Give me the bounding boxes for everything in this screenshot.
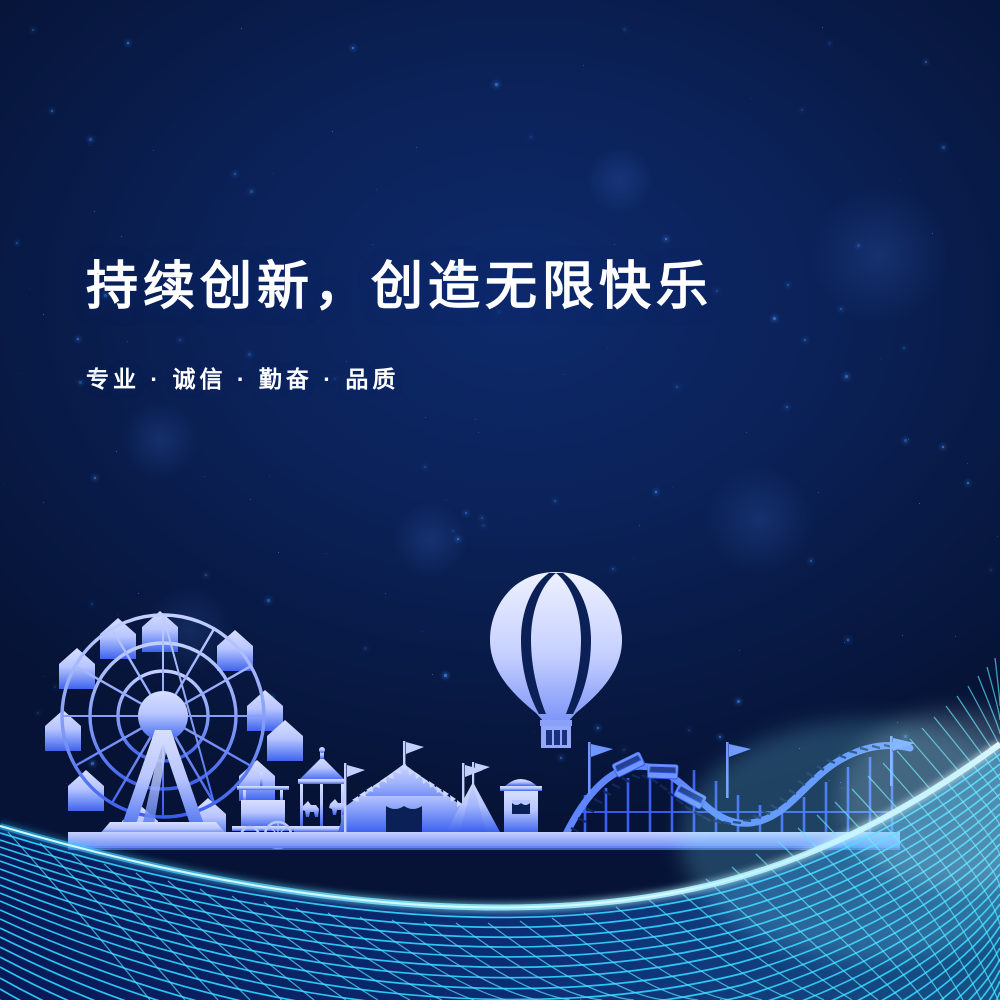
glowing-wave-mesh (0, 0, 1000, 1000)
banner-canvas: 持续创新，创造无限快乐 专业 · 诚信 · 勤奋 · 品质 (0, 0, 1000, 1000)
